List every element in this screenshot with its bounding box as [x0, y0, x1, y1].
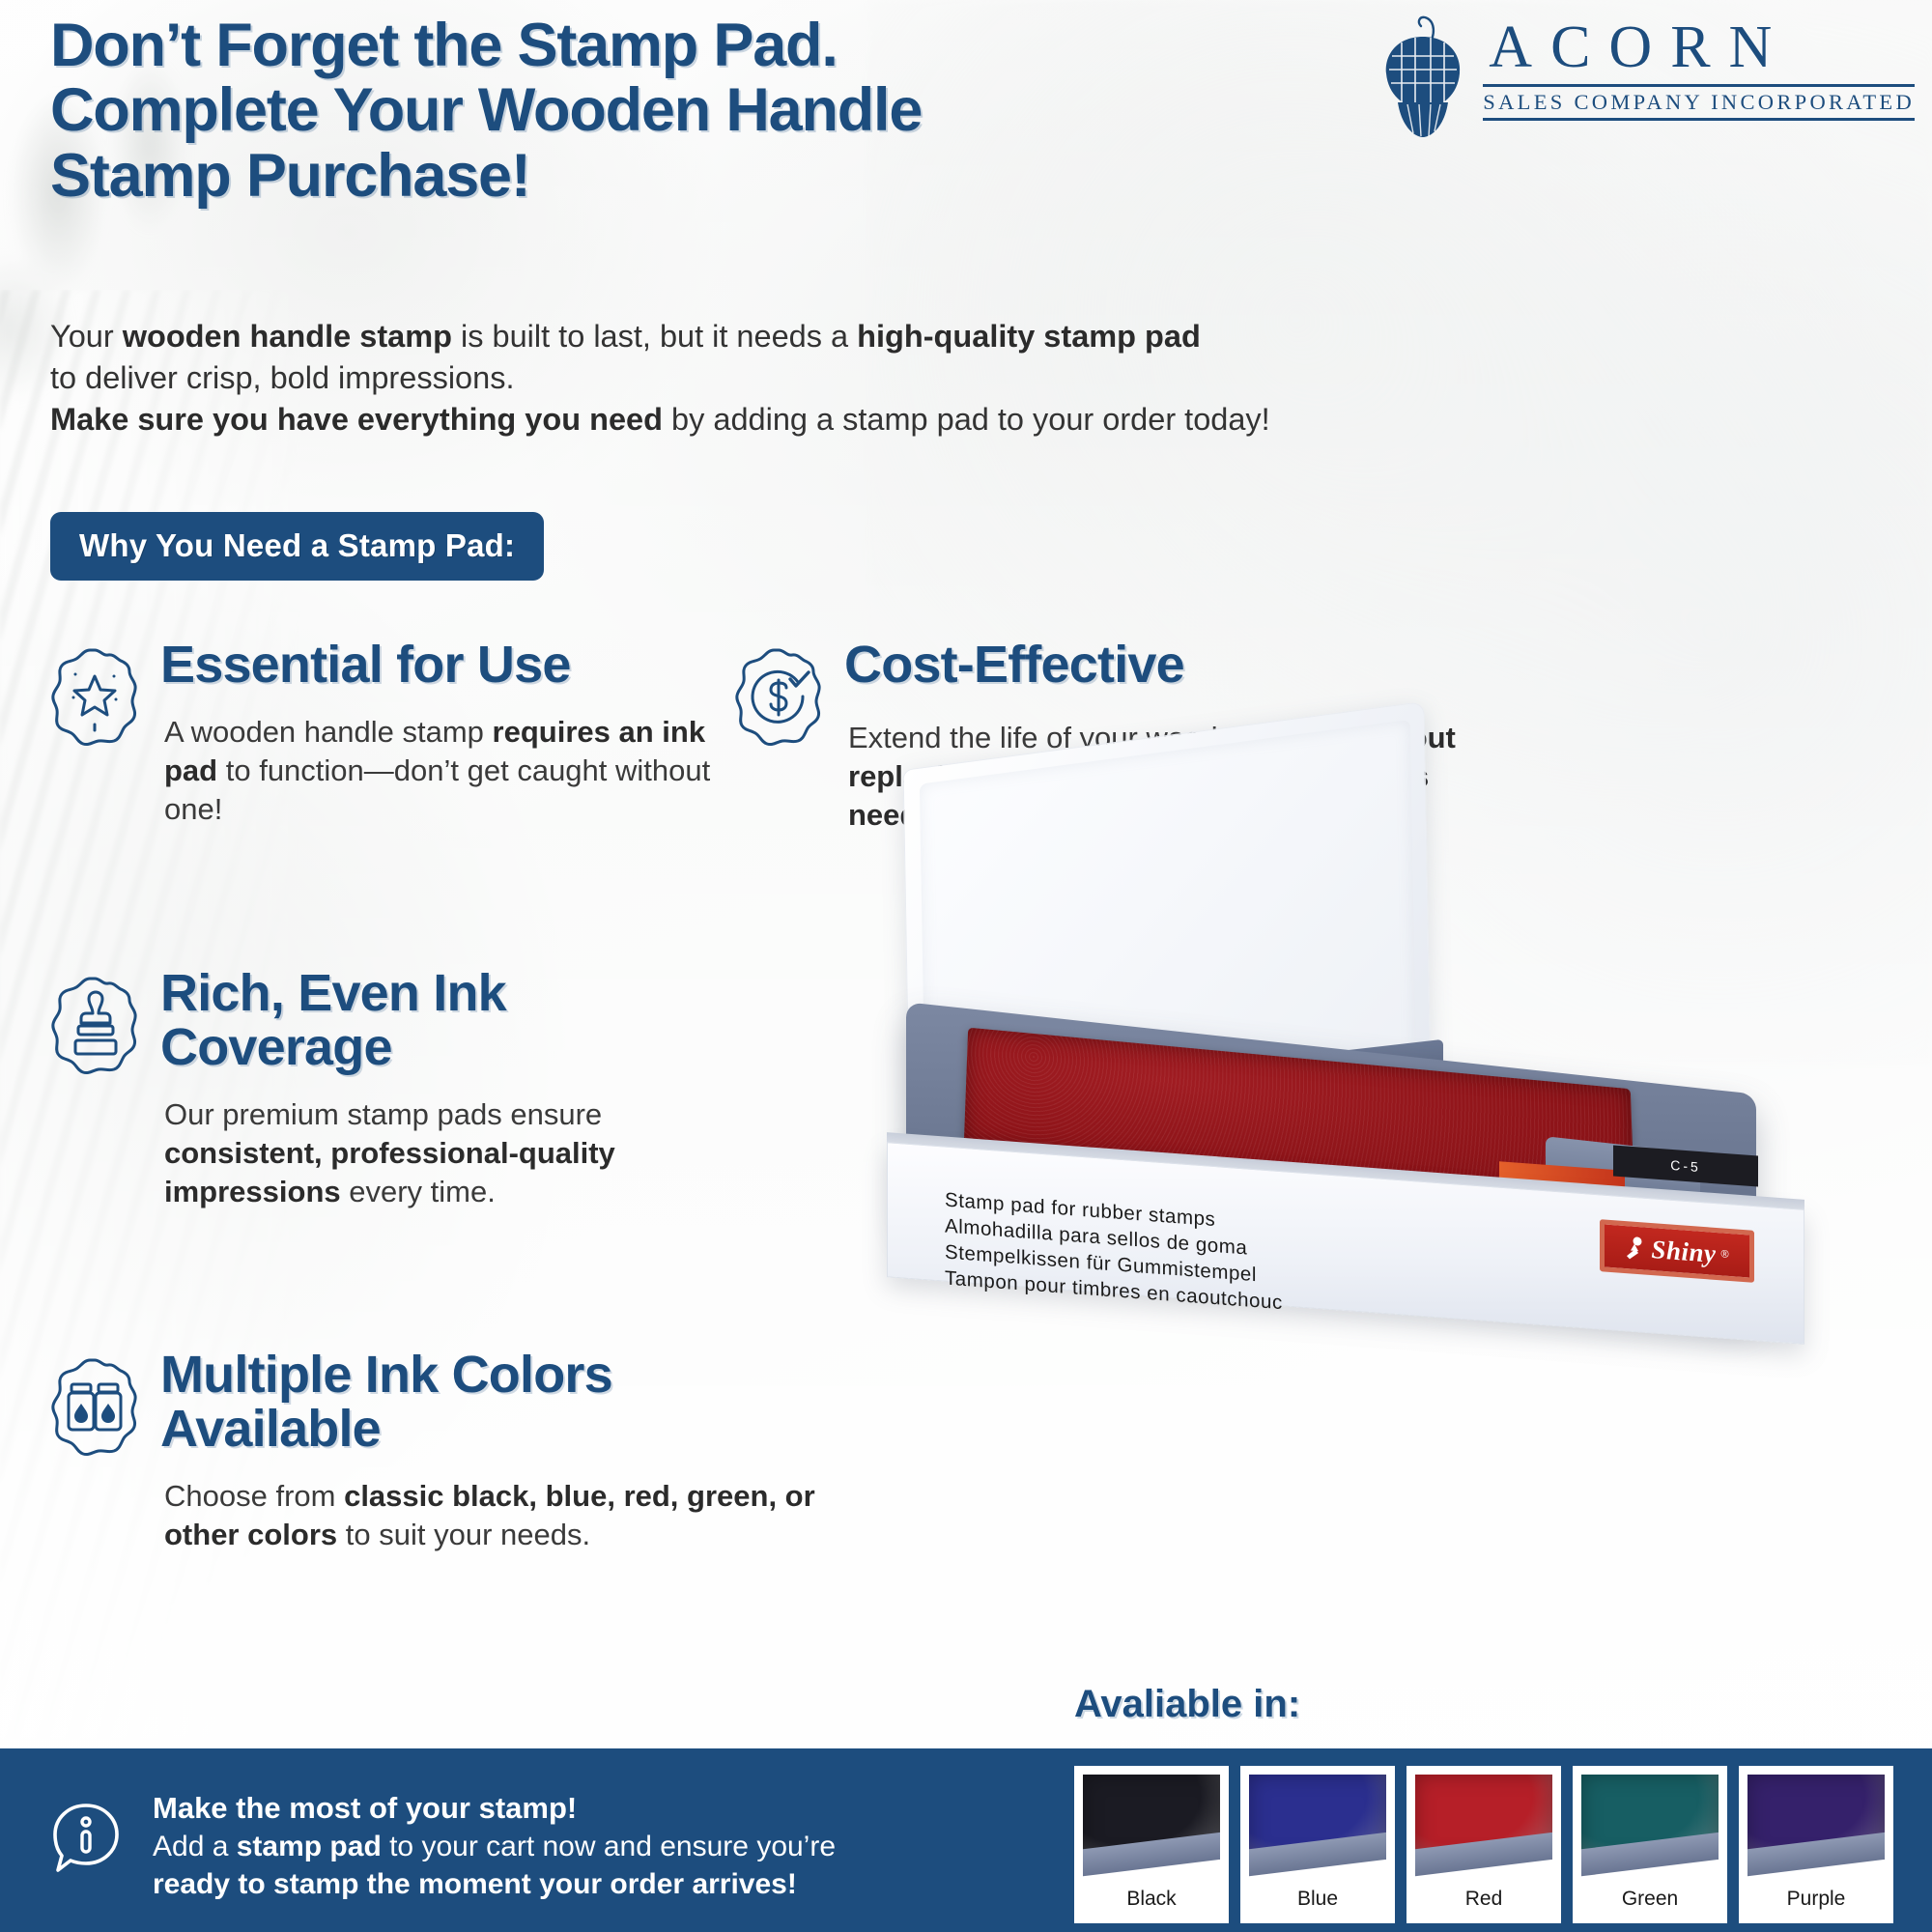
feature-title: Cost-Effective [844, 638, 1472, 692]
cta-line-2: Add a stamp pad to your cart now and ens… [153, 1828, 836, 1865]
stamp-pad-product-image: C-5 Stamp pad for rubber stamps Almohadi… [869, 729, 1845, 1309]
brand-logo: ACORN SALES COMPANY INCORPORATED [1377, 10, 1915, 139]
swatch-label: Black [1083, 1878, 1220, 1920]
header: Don’t Forget the Stamp Pad. Complete You… [50, 14, 1267, 209]
feature-text: Choose from classic black, blue, red, gr… [160, 1477, 823, 1553]
available-in-heading: Avaliable in: [1074, 1683, 1300, 1726]
intro-paragraph: Your wooden handle stamp is built to las… [50, 316, 1345, 441]
headline-line-3: Stamp Purchase! [50, 144, 1267, 209]
feature-rich-even-ink-coverage: Rich, Even Ink Coverage Our premium stam… [50, 966, 717, 1210]
acorn-icon [1377, 14, 1469, 139]
feature-text: A wooden handle stamp requires an ink pa… [160, 713, 746, 828]
swatch-image [1415, 1775, 1552, 1878]
cta-line-3: ready to stamp the moment your order arr… [153, 1865, 836, 1903]
lid-nub [975, 958, 1022, 1003]
headline-line-1: Don’t Forget the Stamp Pad. [50, 14, 1267, 78]
shiny-wordmark: Shiny [1651, 1235, 1716, 1269]
swatch-label: Purple [1747, 1878, 1885, 1920]
dollar-check-badge-icon [734, 647, 823, 748]
cta-block: Make the most of your stamp! Add a stamp… [50, 1789, 836, 1903]
cta-line-1: Make the most of your stamp! [153, 1789, 836, 1828]
intro-line-1: Your wooden handle stamp is built to las… [50, 316, 1345, 357]
color-swatch-blue[interactable]: Blue [1240, 1766, 1395, 1923]
swatch-label: Red [1415, 1878, 1552, 1920]
feature-multiple-ink-colors: Multiple Ink Colors Available Choose fro… [50, 1348, 823, 1554]
feature-title: Multiple Ink Colors Available [160, 1348, 823, 1456]
swatch-label: Blue [1249, 1878, 1386, 1920]
color-swatch-purple[interactable]: Purple [1739, 1766, 1893, 1923]
color-swatch-list: Black Blue Red Green [1074, 1766, 1893, 1923]
swatch-image [1083, 1775, 1220, 1878]
swatch-image [1249, 1775, 1386, 1878]
swatch-label: Green [1581, 1878, 1719, 1920]
info-speech-bubble-icon [50, 1801, 122, 1880]
feature-title: Rich, Even Ink Coverage [160, 966, 717, 1074]
color-swatch-green[interactable]: Green [1573, 1766, 1727, 1923]
feature-essential-for-use: Essential for Use A wooden handle stamp … [50, 638, 746, 828]
star-badge-icon [50, 647, 139, 748]
swatch-image [1581, 1775, 1719, 1878]
feature-title: Essential for Use [160, 638, 746, 692]
rubber-stamp-badge-icon [50, 976, 139, 1076]
logo-tagline: SALES COMPANY INCORPORATED [1483, 92, 1915, 114]
feature-text: Our premium stamp pads ensure consistent… [160, 1095, 717, 1210]
intro-line-2: to deliver crisp, bold impressions. [50, 357, 1345, 399]
registered-mark: ® [1720, 1248, 1728, 1261]
logo-wordmark: ACORN [1483, 17, 1915, 77]
color-swatch-red[interactable]: Red [1406, 1766, 1561, 1923]
section-pill-why: Why You Need a Stamp Pad: [50, 512, 544, 581]
color-swatch-black[interactable]: Black [1074, 1766, 1229, 1923]
shiny-stamp-mark-icon [1625, 1235, 1646, 1262]
headline-line-2: Complete Your Wooden Handle [50, 78, 1267, 143]
page-title: Don’t Forget the Stamp Pad. Complete You… [50, 14, 1267, 209]
ink-bottles-badge-icon [50, 1357, 139, 1458]
swatch-image [1747, 1775, 1885, 1878]
lid-nub [1225, 877, 1272, 922]
cta-text: Make the most of your stamp! Add a stamp… [153, 1789, 836, 1903]
infographic-page: Don’t Forget the Stamp Pad. Complete You… [0, 0, 1932, 1932]
intro-line-3: Make sure you have everything you need b… [50, 399, 1345, 440]
